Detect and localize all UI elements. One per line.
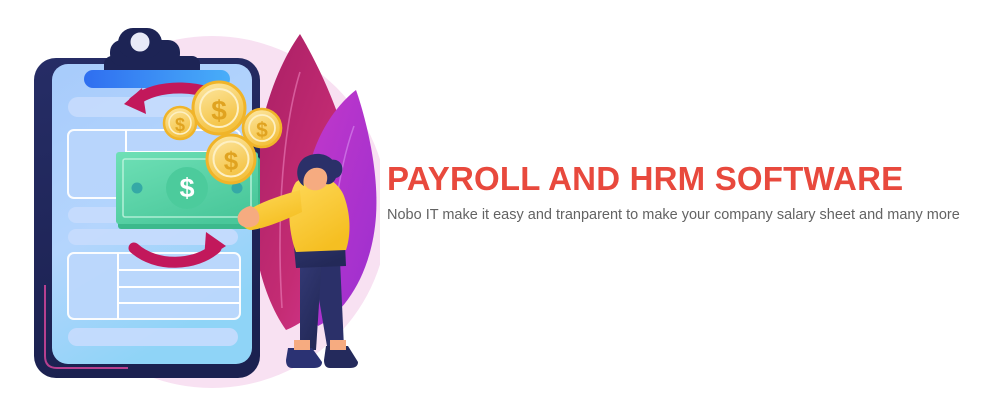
person-ankle-back	[330, 340, 346, 350]
banner-copy: PAYROLL AND HRM SOFTWARE Nobo IT make it…	[387, 160, 987, 225]
page-title: PAYROLL AND HRM SOFTWARE	[387, 160, 987, 198]
coin-small-right: $	[243, 109, 281, 147]
person-ankle-front	[294, 340, 310, 350]
banknote-dollar-symbol: $	[179, 173, 194, 203]
coin-small-left: $	[164, 107, 196, 139]
payroll-hero-banner: $ $ $ $	[0, 0, 1000, 400]
coin-large: $	[193, 82, 245, 134]
coin-large-dollar-symbol: $	[211, 95, 227, 126]
paper-row-4	[68, 328, 238, 346]
coin-medium-dollar-symbol: $	[224, 146, 239, 176]
payroll-illustration-svg: $ $ $ $	[0, 0, 380, 400]
page-subtitle: Nobo IT make it easy and tranparent to m…	[387, 206, 987, 225]
payroll-illustration: $ $ $ $	[0, 0, 380, 400]
coin-small-right-dollar-symbol: $	[256, 119, 268, 142]
coin-small-left-dollar-symbol: $	[175, 115, 185, 135]
